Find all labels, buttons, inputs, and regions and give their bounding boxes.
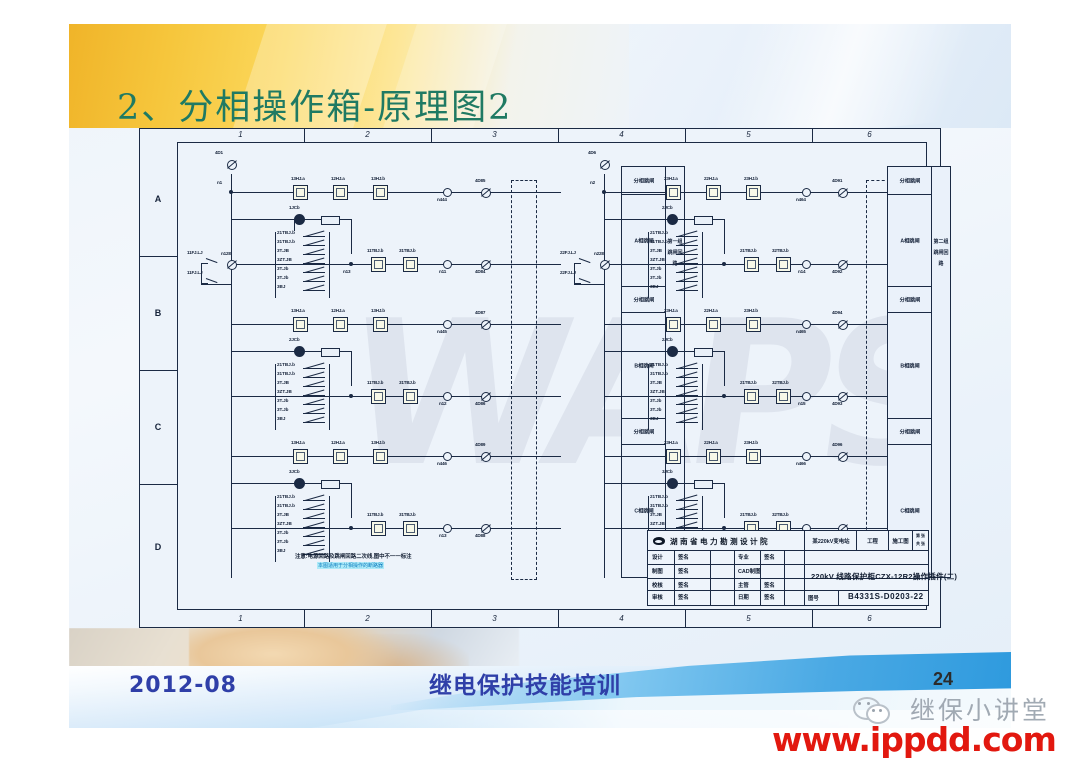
header-swoosh-decoration [606, 24, 1011, 128]
phaseA-mid-node-dot [349, 262, 353, 266]
zone-ruler-top: 1 2 3 4 5 6 [139, 128, 941, 142]
sig-name-1: 签名 [678, 567, 689, 575]
phaseB-contact-1-label: 13HJ.a [291, 308, 305, 313]
right-supply-terminal [600, 160, 610, 170]
project-name: 某220kV变电站 [806, 537, 856, 545]
r-phaseC-coil-label: 3JCb [662, 469, 672, 474]
r-phaseA-mid-contact-2 [776, 257, 791, 272]
r-phaseB-mid-contact-1-label: 21TBJ.b [740, 380, 756, 385]
phaseA-switch-rail [201, 264, 202, 284]
r-phaseB-mid-contact-2 [776, 389, 791, 404]
r-phaseA-switch-bottom-wire [574, 284, 604, 285]
phaseA-node-terminal [227, 260, 237, 270]
right-strip-vertical-label: 第二组跳闸回路 [931, 166, 951, 578]
phaseC-contact-2-label: 12HJ.a [331, 440, 345, 445]
r-phaseA-contact-2 [706, 185, 721, 200]
r-phaseB-mid-contact-2-label: 32TBJ.b [772, 380, 788, 385]
r-phaseB-coil-label: 2JCb [662, 337, 672, 342]
drawing-no: B4331S-D0203-22 [848, 592, 924, 601]
phaseC-coil-down [351, 483, 352, 518]
r-strip-cell-4: 分相跳闸 [888, 419, 932, 445]
phaseA-resistor [321, 216, 340, 225]
drawing-no-label: 图号 [808, 594, 819, 602]
title-block: 湖南省电力勘测设计院 某220kV变电站 工程 施工图 第 张 共 张 设计 签… [647, 530, 929, 606]
phaseB-contact-1 [293, 317, 308, 332]
r-phaseB-coil [667, 346, 678, 357]
r-phaseB-contact-1-label: 23HJ.a [664, 308, 678, 313]
phaseB-mid-out-label: n12 [439, 401, 446, 406]
r-phaseA-coil-label: 2JCb [662, 205, 672, 210]
phaseC-coil-label: 3JCb [289, 469, 299, 474]
r-strip-cell-2: 分相跳闸 [888, 287, 932, 313]
sig-role-2: 校核 [652, 581, 663, 589]
r-phaseB-mid-node-dot [722, 394, 726, 398]
right-circuit-group: 4D6 n2 23HJ.a 22HJ.a 23HJ.b n464 4D91 [554, 146, 934, 586]
sheet-count-2: 共 张 [913, 541, 928, 547]
slide-canvas: 2、分相操作箱-原理图2 1 2 3 4 5 6 1 2 3 4 5 6 [69, 24, 1011, 728]
left-bus-vertical [231, 174, 232, 578]
zone-bot-2: 2 [304, 610, 432, 628]
drawing-title: 220kV 线路保护柜CZX-12R2操作插件(二) [811, 571, 957, 582]
phaseA-contact-2 [333, 185, 348, 200]
phaseC-mid-contact-1-label: 11TBJ.b [367, 512, 383, 517]
r-phaseC-contact-1-label: 23HJ.a [664, 440, 678, 445]
phaseC-resistor [321, 480, 340, 489]
left-cable-bundle-dashed [511, 180, 537, 580]
phaseC-contact-1 [293, 449, 308, 464]
phaseC-mid-node-dot [349, 526, 353, 530]
phaseB-mid-contact-2-label: 31TBJ.b [399, 380, 415, 385]
phaseC-contact-1-label: 13HJ.a [291, 440, 305, 445]
zone-ruler-left: A B C D [139, 128, 177, 628]
phaseB-coil [294, 346, 305, 357]
r-phaseB-contact-1 [666, 317, 681, 332]
phaseB-contact-3-label: 13HJ.b [371, 308, 385, 313]
drawing-note-line1: 注意:电源回路及跳闸回路二次线,图中不一一标注 [295, 552, 412, 560]
r-phaseB-out-dot [802, 320, 811, 329]
right-supply-node-label: n2 [590, 180, 595, 185]
r-phaseC-contact-3 [746, 449, 761, 464]
r-phaseC-out-terminal [838, 452, 848, 462]
phaseB-mid-out-dot [443, 392, 452, 401]
r-phaseA-out-terminal [838, 188, 848, 198]
phaseA-out-dot [443, 188, 452, 197]
r-phaseA-out-terminal-label: 4D91 [832, 178, 842, 183]
phaseB-out-dot-label: n445 [437, 329, 447, 334]
drawing-note-line2: 本图适用于分相操作的断路器 [317, 562, 384, 569]
r-phaseB-mid-out-dot [802, 392, 811, 401]
phaseA-contact-3-label: 13HJ.b [371, 176, 385, 181]
r-phaseA-stack-left-rail [648, 232, 649, 298]
phaseB-mid-contact-1 [371, 389, 386, 404]
r-phaseA-switch-rail [574, 264, 575, 284]
r-phaseB-contact-3 [746, 317, 761, 332]
sig-role-3: 审核 [652, 593, 663, 601]
zone-bot-4: 4 [558, 610, 686, 628]
brand-watermark: 继保小讲堂 www.ippdd.com [772, 687, 1072, 759]
r-phaseA-switch-1-label: 22FJ.LJ [560, 250, 576, 255]
r-phaseB-out-terminal [838, 320, 848, 330]
r-phaseC-contact-2-label: 22HJ.a [704, 440, 718, 445]
sig-role-0: 设计 [652, 553, 663, 561]
cad-label: CAD制图 [738, 567, 760, 575]
phaseA-mid-out-label: n11 [439, 269, 446, 274]
r-phaseC-coil [667, 478, 678, 489]
right-bus-vertical [604, 174, 605, 578]
phaseA-out-terminal-label: 4D85 [475, 178, 485, 183]
sig-rcol-role-2: 日期 [738, 593, 749, 601]
r-phaseC-mid-contact-2-label: 32TBJ.b [772, 512, 788, 517]
footer-date: 2012-08 [129, 673, 237, 698]
phaseA-contact-3 [373, 185, 388, 200]
phaseA-coil [294, 214, 305, 225]
phaseB-mid-terminal-label: 4D86 [475, 401, 485, 406]
r-phaseA-contact-2-label: 22HJ.a [704, 176, 718, 181]
sig-rcol-role-0: 专业 [738, 553, 749, 561]
project-label: 工程 [857, 537, 888, 545]
zone-top-4: 4 [558, 128, 686, 142]
right-terminal-strip: 分相跳闸 A相跳闸 分相跳闸 B相跳闸 分相跳闸 C相跳闸 [887, 166, 933, 578]
zone-bot-1: 1 [177, 610, 305, 628]
phaseA-switch-1 [201, 258, 217, 264]
phaseB-out-terminal [481, 320, 491, 330]
phaseC-mid-out-label: n13 [439, 533, 446, 538]
phaseA-out-terminal [481, 188, 491, 198]
phaseA-coil-label: 1JCb [289, 205, 299, 210]
r-phaseA-resistor [694, 216, 713, 225]
r-phaseB-contact-2 [706, 317, 721, 332]
left-supply-node-label: n1 [217, 180, 222, 185]
r-phaseC-contact-1 [666, 449, 681, 464]
r-phaseA-mid-out-dot [802, 260, 811, 269]
zone-left-D: D [139, 484, 177, 610]
r-phaseA-contact-3 [746, 185, 761, 200]
phaseA-contact-2-label: 12HJ.a [331, 176, 345, 181]
r-phaseC-resistor [694, 480, 713, 489]
phaseC-contact-3-label: 13HJ.b [371, 440, 385, 445]
phaseB-mid-node-dot [349, 394, 353, 398]
r-phaseA-contact-1-label: 23HJ.a [664, 176, 678, 181]
zone-top-1: 1 [177, 128, 305, 142]
right-strip-vlabel-text: 第二组跳闸回路 [932, 237, 950, 270]
r-phaseA-node-label: n228 [594, 251, 604, 256]
r-phaseA-out-dot [802, 188, 811, 197]
left-supply-terminal [227, 160, 237, 170]
phaseB-out-terminal-label: 4D87 [475, 310, 485, 315]
sig-role-1: 制图 [652, 567, 663, 575]
phaseB-contact-2-label: 12HJ.a [331, 308, 345, 313]
r-phaseC-out-dot [802, 452, 811, 461]
phaseB-contact-3 [373, 317, 388, 332]
zone-bot-6: 6 [812, 610, 927, 628]
phaseA-switch-1-label: 11FJ.LJ [187, 250, 202, 255]
sig-rcol-name-2: 签名 [764, 593, 775, 601]
phaseC-mid-contact-2 [403, 521, 418, 536]
phaseB-resistor [321, 348, 340, 357]
phaseA-coil-down [351, 219, 352, 254]
r-phaseA-mid-contact-1-label: 21TBJ.b [740, 248, 756, 253]
r-strip-cell-0: 分相跳闸 [888, 167, 932, 195]
phaseA-mid-out-dot [443, 260, 452, 269]
phaseC-stack-left-rail [275, 496, 276, 562]
r-phaseA-mid-contact-1 [744, 257, 759, 272]
r-phaseA-mid-terminal-label: 4D92 [832, 269, 842, 274]
sig-rcol-name-0: 签名 [764, 553, 775, 561]
phaseC-mid-contact-2-label: 31TBJ.b [399, 512, 415, 517]
r-phaseB-stack-left-rail [648, 364, 649, 430]
left-supply-label: 4D1 [215, 150, 223, 155]
phaseB-stack-right-rail [329, 364, 330, 430]
r-phaseA-mid-node-dot [722, 262, 726, 266]
left-circuit-group: 4D1 n1 13HJ.a 12HJ.a 13HJ.b n444 4D85 [181, 146, 561, 586]
phaseC-coil [294, 478, 305, 489]
phaseA-switch-bottom-wire [201, 284, 231, 285]
r-phaseB-contact-2-label: 22HJ.a [704, 308, 718, 313]
r-phaseB-mid-terminal-label: 4D93 [832, 401, 842, 406]
phaseA-contact-1 [293, 185, 308, 200]
r-phaseC-contact-3-label: 23HJ.b [744, 440, 758, 445]
r-phaseC-coil-down [724, 483, 725, 518]
phaseC-mid-terminal-label: 4D88 [475, 533, 485, 538]
r-phaseA-coil-down [724, 219, 725, 254]
zone-ruler-bottom: 1 2 3 4 5 6 [139, 610, 941, 628]
phaseB-mid-contact-2 [403, 389, 418, 404]
r-phaseB-coil-down [724, 351, 725, 386]
zone-top-3: 3 [431, 128, 559, 142]
sheet-count-1: 第 张 [913, 533, 928, 539]
phaseC-out-dot-label: n446 [437, 461, 447, 466]
phaseA-mid-contact-2 [403, 257, 418, 272]
r-strip-cell-1: A相跳闸 [888, 195, 932, 287]
zone-top-6: 6 [812, 128, 927, 142]
phaseA-mid-node-label: n13 [343, 269, 350, 274]
phaseA-stack-left-rail [275, 232, 276, 298]
zone-left-B: B [139, 256, 177, 371]
phaseC-out-dot [443, 452, 452, 461]
phaseA-mid-contact-2-label: 31TBJ.b [399, 248, 415, 253]
r-strip-cell-3: B相跳闸 [888, 313, 932, 419]
r-phaseB-resistor [694, 348, 713, 357]
phaseA-contact-1-label: 13HJ.a [291, 176, 305, 181]
footer-title: 继电保护技能培训 [429, 666, 621, 700]
r-phaseA-out-dot-label: n464 [796, 197, 806, 202]
sig-name-0: 签名 [678, 553, 689, 561]
phaseC-out-terminal-label: 4D89 [475, 442, 485, 447]
phaseA-mid-terminal-label: 4D84 [475, 269, 485, 274]
r-phaseB-mid-contact-1 [744, 389, 759, 404]
phaseB-mid-contact-1-label: 11TBJ.b [367, 380, 383, 385]
phaseC-contact-2 [333, 449, 348, 464]
zone-bot-5: 5 [685, 610, 813, 628]
sig-rcol-role-1: 主管 [738, 581, 749, 589]
phaseC-contact-3 [373, 449, 388, 464]
page-title: 2、分相操作箱-原理图2 [117, 79, 512, 128]
zone-bot-3: 3 [431, 610, 559, 628]
slide-header: 2、分相操作箱-原理图2 [69, 24, 1011, 128]
phaseC-mid-contact-1 [371, 521, 386, 536]
phaseC-mid-out-dot [443, 524, 452, 533]
right-supply-label: 4D6 [588, 150, 596, 155]
phaseB-contact-2 [333, 317, 348, 332]
slide-root: 2、分相操作箱-原理图2 1 2 3 4 5 6 1 2 3 4 5 6 [0, 0, 1080, 763]
sig-rcol-name-1: 签名 [764, 581, 775, 589]
phaseA-stack-right-rail [329, 232, 330, 298]
r-phaseA-coil [667, 214, 678, 225]
engineering-drawing-sheet: 1 2 3 4 5 6 1 2 3 4 5 6 A B C D [139, 128, 941, 628]
phaseA-mid-contact-1-label: 11TBJ.b [367, 248, 383, 253]
r-phaseC-mid-contact-1-label: 21TBJ.b [740, 512, 756, 517]
r-phaseB-stack-right-rail [702, 364, 703, 430]
phaseC-out-terminal [481, 452, 491, 462]
phaseA-node-label: n128 [221, 251, 231, 256]
stage-label: 施工图 [889, 537, 912, 545]
phaseB-coil-label: 2JCb [289, 337, 299, 342]
sig-name-3: 签名 [678, 593, 689, 601]
r-phaseA-contact-1 [666, 185, 681, 200]
r-phaseC-contact-2 [706, 449, 721, 464]
zone-top-2: 2 [304, 128, 432, 142]
wechat-icon [853, 697, 887, 719]
phaseB-stack-left-rail [275, 364, 276, 430]
phaseA-mid-contact-1 [371, 257, 386, 272]
r-phaseA-mid-out-label: n14 [798, 269, 805, 274]
r-phaseA-contact-3-label: 23HJ.b [744, 176, 758, 181]
r-phaseB-out-terminal-label: 4D94 [832, 310, 842, 315]
r-phaseA-stack-right-rail [702, 232, 703, 298]
r-phaseA-node-terminal [600, 260, 610, 270]
zone-top-5: 5 [685, 128, 813, 142]
r-phaseB-mid-out-label: n15 [798, 401, 805, 406]
institute-name: 湖南省电力勘测设计院 [670, 536, 770, 547]
r-phaseC-out-dot-label: n466 [796, 461, 806, 466]
r-phaseA-mid-contact-2-label: 32TBJ.b [772, 248, 788, 253]
brand-url[interactable]: www.ippdd.com [772, 720, 1056, 759]
zone-left-C: C [139, 370, 177, 485]
phaseB-coil-down [351, 351, 352, 386]
phaseB-out-dot [443, 320, 452, 329]
r-phaseB-out-dot-label: n465 [796, 329, 806, 334]
zone-left-A: A [139, 142, 177, 257]
phaseA-out-dot-label: n444 [437, 197, 447, 202]
r-phaseA-switch-1 [574, 258, 590, 264]
institute-logo-icon [653, 537, 665, 545]
r-phaseC-out-terminal-label: 4D96 [832, 442, 842, 447]
sig-name-2: 签名 [678, 581, 689, 589]
r-phaseB-contact-3-label: 23HJ.b [744, 308, 758, 313]
